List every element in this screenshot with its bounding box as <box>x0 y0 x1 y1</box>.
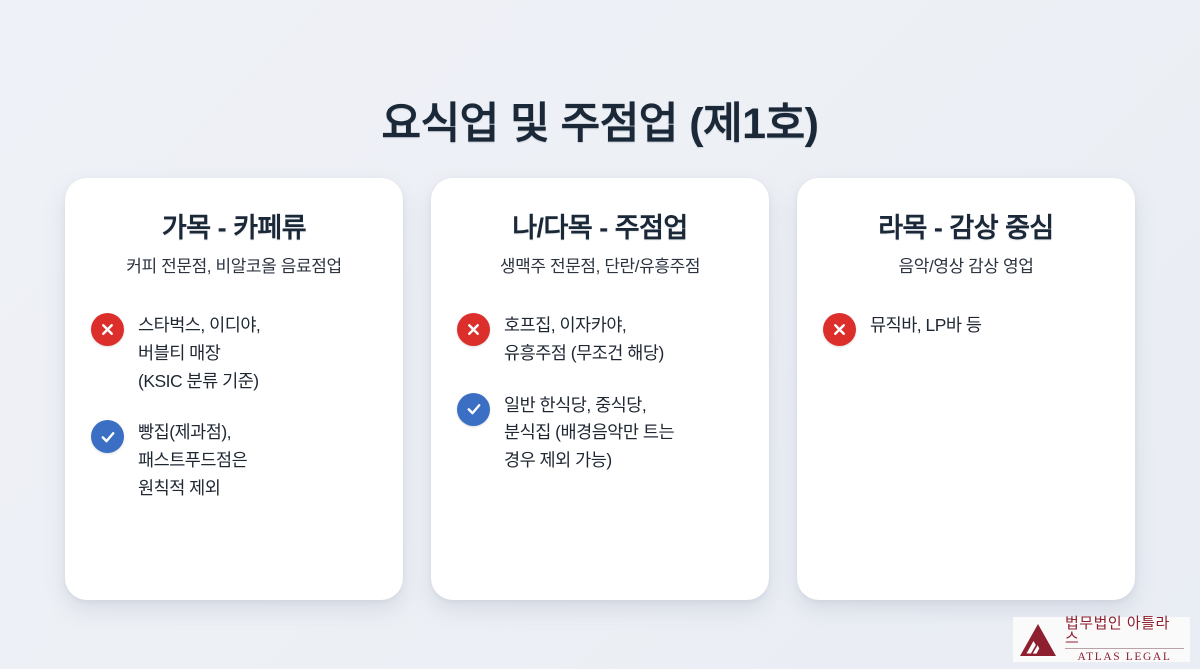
category-card: 라목 - 감상 중심 음악/영상 감상 영업 뮤직바, LP바 등 <box>797 178 1135 600</box>
circle-check-icon <box>91 420 124 453</box>
category-card: 가목 - 카페류 커피 전문점, 비알코올 음료점업 스타벅스, 이디야, 버블… <box>65 178 403 600</box>
card-row: 가목 - 카페류 커피 전문점, 비알코올 음료점업 스타벅스, 이디야, 버블… <box>65 178 1135 602</box>
list-item: 빵집(제과점), 패스트푸드점은 원칙적 제외 <box>91 419 377 502</box>
logo-english-name: ATLAS LEGAL <box>1065 649 1184 664</box>
card-item-list: 스타벅스, 이디야, 버블티 매장 (KSIC 분류 기준) 빵집(제과점), … <box>91 312 377 502</box>
card-subtitle: 음악/영상 감상 영업 <box>823 256 1109 278</box>
logo-korean-name: 법무법인 아틀라스 <box>1065 616 1184 649</box>
page-title: 요식업 및 주점업 (제1호) <box>0 89 1200 151</box>
list-item: 뮤직바, LP바 등 <box>823 312 1109 346</box>
list-item-text: 호프집, 이자카야, 유흥주점 (무조건 해당) <box>504 312 664 367</box>
card-title: 나/다목 - 주점업 <box>457 212 743 244</box>
company-logo: 법무법인 아틀라스 ATLAS LEGAL <box>1013 617 1190 662</box>
list-item-text: 뮤직바, LP바 등 <box>870 312 982 340</box>
card-title: 가목 - 카페류 <box>91 212 377 244</box>
card-title: 라목 - 감상 중심 <box>823 212 1109 244</box>
card-item-list: 호프집, 이자카야, 유흥주점 (무조건 해당) 일반 한식당, 중식당, 분식… <box>457 312 743 474</box>
logo-wordmark: 법무법인 아틀라스 ATLAS LEGAL <box>1065 616 1184 664</box>
card-subtitle: 생맥주 전문점, 단란/유흥주점 <box>457 256 743 278</box>
list-item-text: 스타벅스, 이디야, 버블티 매장 (KSIC 분류 기준) <box>138 312 260 395</box>
card-item-list: 뮤직바, LP바 등 <box>823 312 1109 346</box>
list-item-text: 일반 한식당, 중식당, 분식집 (배경음악만 트는 경우 제외 가능) <box>504 392 674 475</box>
circle-x-icon <box>823 313 856 346</box>
circle-x-icon <box>457 313 490 346</box>
list-item-text: 빵집(제과점), 패스트푸드점은 원칙적 제외 <box>138 419 247 502</box>
atlas-triangle-mark-icon <box>1019 623 1057 657</box>
circle-check-icon <box>457 393 490 426</box>
card-subtitle: 커피 전문점, 비알코올 음료점업 <box>91 256 377 278</box>
list-item: 스타벅스, 이디야, 버블티 매장 (KSIC 분류 기준) <box>91 312 377 395</box>
list-item: 호프집, 이자카야, 유흥주점 (무조건 해당) <box>457 312 743 367</box>
category-card: 나/다목 - 주점업 생맥주 전문점, 단란/유흥주점 호프집, 이자카야, 유… <box>431 178 769 600</box>
circle-x-icon <box>91 313 124 346</box>
list-item: 일반 한식당, 중식당, 분식집 (배경음악만 트는 경우 제외 가능) <box>457 392 743 475</box>
